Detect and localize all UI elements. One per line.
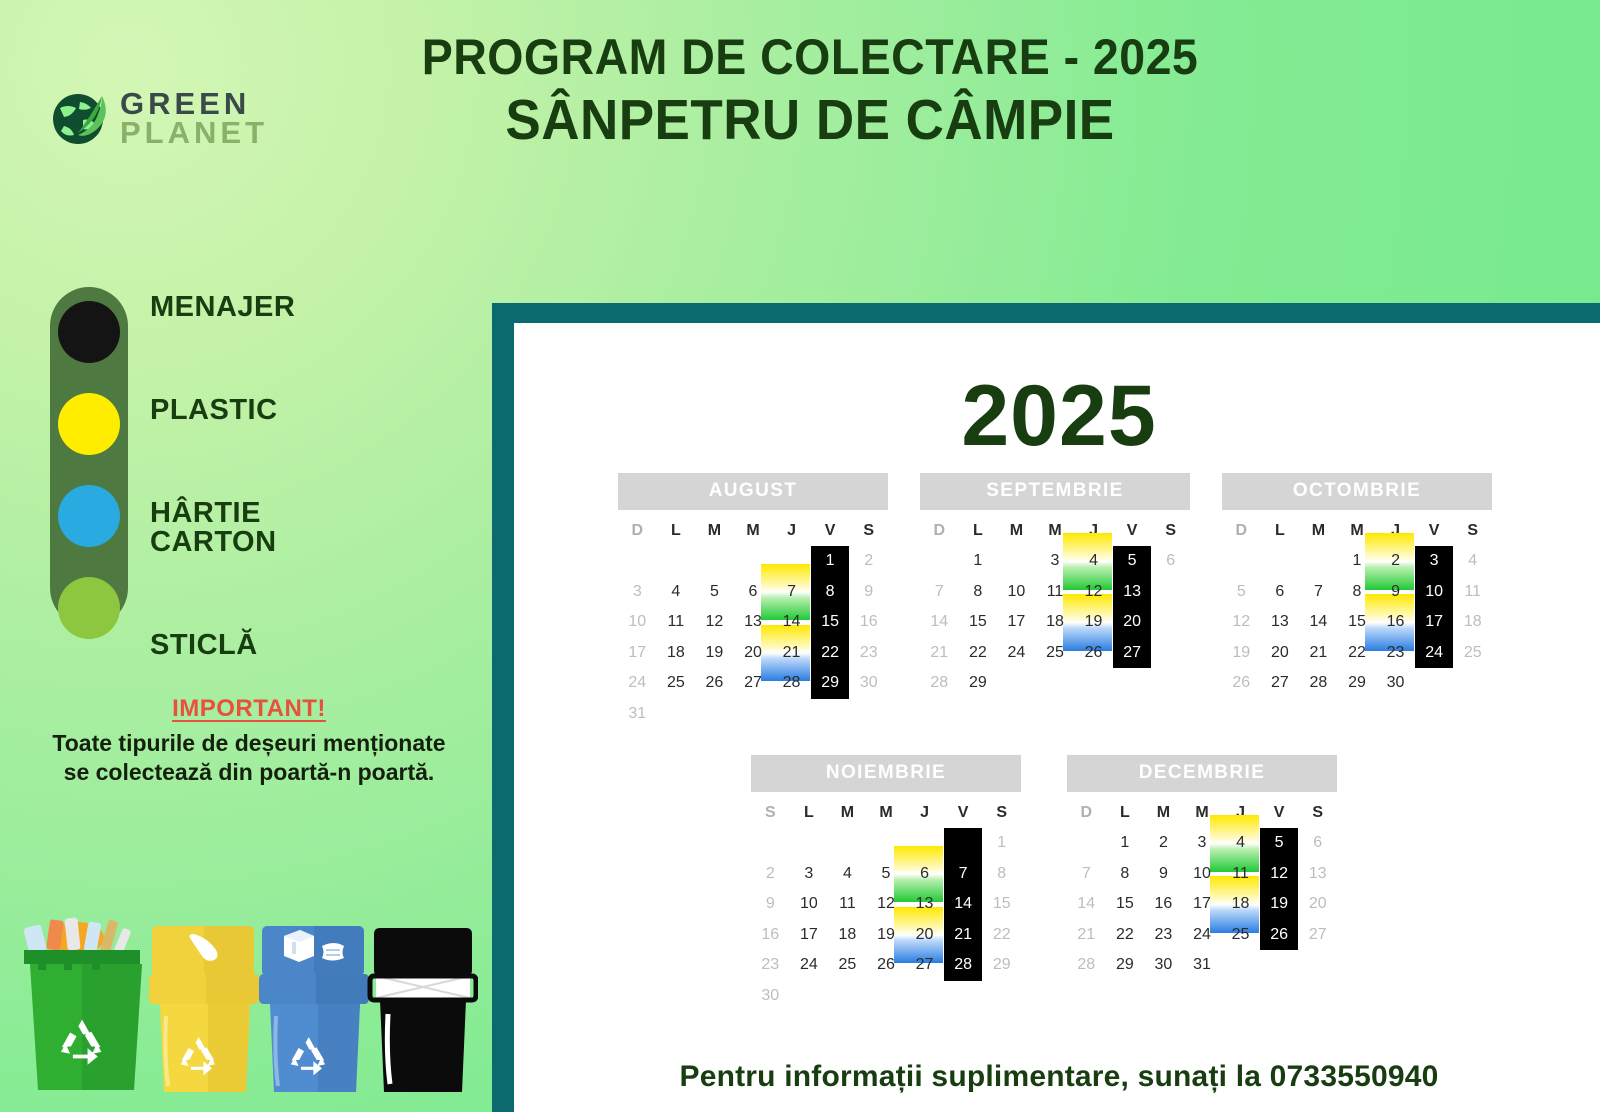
day-cell-empty — [772, 699, 811, 730]
day-cell[interactable]: 6 — [905, 859, 944, 890]
day-cell-empty — [1261, 546, 1300, 577]
day-of-week-header: SLMMJVS — [751, 798, 1021, 828]
important-title: IMPORTANT! — [14, 695, 484, 723]
day-cell[interactable]: 5 — [1260, 828, 1299, 859]
day-cell[interactable]: 24 — [1415, 638, 1454, 669]
day-cell-empty — [734, 546, 773, 577]
dow-0: D — [1067, 798, 1106, 828]
day-cell[interactable]: 10 — [790, 889, 829, 920]
dow-3: M — [1338, 516, 1377, 546]
day-cell[interactable]: 7 — [1299, 577, 1338, 608]
dow-3: M — [734, 516, 773, 546]
dow-5: V — [811, 516, 850, 546]
month-title: SEPTEMBRIE — [920, 473, 1190, 510]
day-cell[interactable]: 17 — [1415, 607, 1454, 638]
month-title: NOIEMBRIE — [751, 755, 1021, 792]
day-cell[interactable]: 11 — [828, 889, 867, 920]
day-cell[interactable]: 30 — [751, 981, 790, 1012]
day-cell[interactable]: 22 — [811, 638, 850, 669]
day-cell[interactable]: 16 — [751, 920, 790, 951]
day-cell[interactable]: 18 — [828, 920, 867, 951]
dow-2: M — [997, 516, 1036, 546]
day-cell[interactable]: 19 — [1074, 607, 1113, 638]
day-of-week-header: DLMMJVS — [1222, 516, 1492, 546]
day-cell[interactable]: 29 — [1106, 950, 1145, 981]
day-cell-empty — [997, 546, 1036, 577]
day-cell[interactable]: 25 — [1221, 920, 1260, 951]
day-cell[interactable]: 10 — [1415, 577, 1454, 608]
day-cell[interactable]: 5 — [695, 577, 734, 608]
dow-5: V — [1113, 516, 1152, 546]
day-cell[interactable]: 4 — [1221, 828, 1260, 859]
day-cell[interactable]: 1 — [811, 546, 850, 577]
dow-5: V — [944, 798, 983, 828]
day-cell[interactable]: 21 — [944, 920, 983, 951]
day-cell[interactable]: 30 — [849, 668, 888, 699]
day-cell[interactable]: 12 — [1074, 577, 1113, 608]
day-cell[interactable]: 24 — [997, 638, 1036, 669]
day-cell[interactable]: 31 — [1183, 950, 1222, 981]
day-of-week-header: DLMMJVS — [920, 516, 1190, 546]
day-cell[interactable]: 29 — [1338, 668, 1377, 699]
four-waste-bins-illustration — [8, 898, 478, 1103]
day-cell[interactable]: 11 — [1221, 859, 1260, 890]
day-cell[interactable]: 20 — [1261, 638, 1300, 669]
day-cell-empty — [695, 546, 734, 577]
day-of-week-header: DLMMJVS — [618, 516, 888, 546]
day-cell-empty — [944, 828, 983, 859]
day-cell[interactable]: 27 — [1113, 638, 1152, 669]
day-cell[interactable]: 27 — [905, 950, 944, 981]
day-cell[interactable]: 26 — [695, 668, 734, 699]
day-cell[interactable]: 1 — [1338, 546, 1377, 577]
day-cell[interactable]: 15 — [959, 607, 998, 638]
dow-2: M — [828, 798, 867, 828]
day-cell[interactable]: 6 — [1151, 546, 1190, 577]
dow-2: M — [1299, 516, 1338, 546]
dow-1: L — [1106, 798, 1145, 828]
day-cell-empty — [1299, 546, 1338, 577]
month-grid: 1234567891011121314151617181920212223242… — [751, 828, 1021, 1011]
day-cell[interactable]: 26 — [867, 950, 906, 981]
day-cell[interactable]: 15 — [982, 889, 1021, 920]
dow-3: M — [1183, 798, 1222, 828]
day-cell[interactable]: 3 — [618, 577, 657, 608]
day-cell[interactable]: 9 — [849, 577, 888, 608]
day-cell[interactable]: 13 — [1113, 577, 1152, 608]
black-dot-icon — [58, 301, 120, 363]
month-title: OCTOMBRIE — [1222, 473, 1492, 510]
dow-4: J — [1221, 798, 1260, 828]
month-noiembrie: NOIEMBRIESLMMJVS123456789101112131415161… — [751, 755, 1021, 1011]
day-cell[interactable]: 22 — [959, 638, 998, 669]
day-cell[interactable]: 13 — [1298, 859, 1337, 890]
day-cell-empty — [997, 668, 1036, 699]
day-cell[interactable]: 20 — [1298, 889, 1337, 920]
day-cell-empty — [920, 546, 959, 577]
dow-1: L — [657, 516, 696, 546]
day-cell[interactable]: 19 — [1222, 638, 1261, 669]
day-cell[interactable]: 25 — [828, 950, 867, 981]
day-cell[interactable]: 6 — [1298, 828, 1337, 859]
day-cell-empty — [1453, 668, 1492, 699]
day-cell[interactable]: 1 — [982, 828, 1021, 859]
dow-6: S — [1453, 516, 1492, 546]
day-cell[interactable]: 1 — [959, 546, 998, 577]
day-cell[interactable]: 20 — [734, 638, 773, 669]
day-cell-empty — [867, 981, 906, 1012]
day-cell[interactable]: 8 — [1106, 859, 1145, 890]
legend-item-plastic: PLASTIC — [150, 396, 295, 426]
day-cell[interactable]: 22 — [1338, 638, 1377, 669]
day-cell-empty — [1113, 668, 1152, 699]
dow-2: M — [695, 516, 734, 546]
day-cell[interactable]: 10 — [618, 607, 657, 638]
dow-0: D — [1222, 516, 1261, 546]
day-cell[interactable]: 3 — [1183, 828, 1222, 859]
day-cell-empty — [1415, 668, 1454, 699]
calendar-panel-frame: 2025 AUGUSTDLMMJVS1234567891011121314151… — [492, 303, 1600, 1112]
month-august: AUGUSTDLMMJVS123456789101112131415161718… — [618, 473, 888, 729]
day-cell[interactable]: 29 — [959, 668, 998, 699]
dow-2: M — [1144, 798, 1183, 828]
day-cell[interactable]: 14 — [1067, 889, 1106, 920]
day-cell-empty — [1036, 668, 1075, 699]
day-cell[interactable]: 14 — [944, 889, 983, 920]
day-cell[interactable]: 17 — [997, 607, 1036, 638]
month-grid: 1345678101112131415171819202122242526272… — [920, 546, 1190, 699]
dow-4: J — [1376, 516, 1415, 546]
day-cell[interactable]: 15 — [1106, 889, 1145, 920]
day-cell[interactable]: 21 — [772, 638, 811, 669]
brand-name-bottom: PLANET — [120, 119, 268, 148]
day-cell-empty — [1151, 577, 1190, 608]
day-cell-empty — [751, 828, 790, 859]
dow-1: L — [959, 516, 998, 546]
day-cell[interactable]: 7 — [1067, 859, 1106, 890]
calendar-year: 2025 — [514, 323, 1600, 459]
day-cell[interactable]: 1 — [1106, 828, 1145, 859]
day-cell-empty — [772, 546, 811, 577]
day-cell-empty — [828, 981, 867, 1012]
day-cell[interactable]: 28 — [920, 668, 959, 699]
month-grid: 1234567891011121314151617181920212223242… — [1222, 546, 1492, 699]
day-cell[interactable]: 18 — [1221, 889, 1260, 920]
months-row-1: AUGUSTDLMMJVS123456789101112131415161718… — [514, 473, 1600, 729]
day-cell[interactable]: 26 — [1222, 668, 1261, 699]
legend-item-hartie-carton: HÂRTIE CARTON — [150, 499, 295, 559]
day-cell[interactable]: 4 — [828, 859, 867, 890]
contact-footer: Pentru informații suplimentare, sunați l… — [514, 1060, 1600, 1094]
day-cell[interactable]: 20 — [1113, 607, 1152, 638]
dow-3: M — [1036, 516, 1075, 546]
day-cell-empty — [1298, 950, 1337, 981]
day-cell[interactable]: 27 — [1261, 668, 1300, 699]
day-cell[interactable]: 18 — [657, 638, 696, 669]
blue-dot-icon — [58, 485, 120, 547]
yellow-dot-icon — [58, 393, 120, 455]
day-cell[interactable]: 4 — [1453, 546, 1492, 577]
day-cell[interactable]: 17 — [618, 638, 657, 669]
day-cell-empty — [695, 699, 734, 730]
day-cell-empty — [1151, 668, 1190, 699]
dow-3: M — [867, 798, 906, 828]
month-title: AUGUST — [618, 473, 888, 510]
day-cell-empty — [1151, 638, 1190, 669]
legend-label-list: MENAJER PLASTIC HÂRTIE CARTON STICLĂ — [150, 287, 295, 661]
important-body: Toate tipurile de deșeuri menționate se … — [14, 729, 484, 788]
month-octombrie: OCTOMBRIEDLMMJVS123456789101112131415161… — [1222, 473, 1492, 729]
dow-0: D — [920, 516, 959, 546]
day-cell[interactable]: 23 — [1376, 638, 1415, 669]
months-row-2: NOIEMBRIESLMMJVS123456789101112131415161… — [514, 755, 1600, 1011]
day-cell[interactable]: 9 — [751, 889, 790, 920]
day-cell[interactable]: 23 — [849, 638, 888, 669]
legend-color-bar — [50, 287, 128, 627]
waste-type-legend: MENAJER PLASTIC HÂRTIE CARTON STICLĂ — [50, 287, 295, 661]
day-cell[interactable]: 25 — [1453, 638, 1492, 669]
dow-4: J — [1074, 516, 1113, 546]
day-cell-empty — [1222, 546, 1261, 577]
day-cell[interactable]: 10 — [1183, 859, 1222, 890]
locality-title: SÂNPETRU DE CÂMPIE — [364, 85, 1257, 156]
month-grid: 1234567891011121314151617181920212223242… — [1067, 828, 1337, 981]
day-cell[interactable]: 2 — [751, 859, 790, 890]
day-cell-empty — [811, 699, 850, 730]
day-cell[interactable]: 8 — [811, 577, 850, 608]
day-cell[interactable]: 3 — [790, 859, 829, 890]
day-cell-empty — [657, 546, 696, 577]
day-cell[interactable]: 27 — [734, 668, 773, 699]
bin-green-full — [23, 917, 142, 1090]
day-cell[interactable]: 29 — [811, 668, 850, 699]
day-cell[interactable]: 21 — [920, 638, 959, 669]
dow-6: S — [1298, 798, 1337, 828]
day-cell[interactable]: 6 — [734, 577, 773, 608]
page-title: PROGRAM DE COLECTARE - 2025 — [364, 30, 1257, 85]
day-cell[interactable]: 20 — [905, 920, 944, 951]
day-cell[interactable]: 11 — [1453, 577, 1492, 608]
day-cell-empty — [1260, 950, 1299, 981]
day-cell[interactable]: 28 — [944, 950, 983, 981]
day-cell[interactable]: 16 — [1144, 889, 1183, 920]
bin-black-household — [370, 928, 476, 1092]
dow-6: S — [982, 798, 1021, 828]
dow-6: S — [849, 516, 888, 546]
day-cell[interactable]: 4 — [657, 577, 696, 608]
day-cell[interactable]: 14 — [1299, 607, 1338, 638]
day-cell[interactable]: 5 — [1113, 546, 1152, 577]
day-cell[interactable]: 5 — [867, 859, 906, 890]
day-cell[interactable]: 3 — [1036, 546, 1075, 577]
day-cell[interactable]: 12 — [1260, 859, 1299, 890]
day-cell[interactable]: 13 — [905, 889, 944, 920]
day-cell-empty — [657, 699, 696, 730]
bin-blue-paper — [259, 926, 369, 1092]
month-grid: 1234567891011121314151617181920212223242… — [618, 546, 888, 729]
day-cell[interactable]: 28 — [1067, 950, 1106, 981]
day-cell-empty — [790, 828, 829, 859]
day-cell[interactable]: 5 — [1222, 577, 1261, 608]
dow-5: V — [1415, 516, 1454, 546]
dow-0: S — [751, 798, 790, 828]
day-cell[interactable]: 4 — [1074, 546, 1113, 577]
day-cell[interactable]: 22 — [1106, 920, 1145, 951]
important-note: IMPORTANT! Toate tipurile de deșeuri men… — [14, 695, 484, 788]
months-container: AUGUSTDLMMJVS123456789101112131415161718… — [514, 473, 1600, 1011]
dow-1: L — [790, 798, 829, 828]
day-cell[interactable]: 10 — [997, 577, 1036, 608]
day-cell-empty — [1074, 668, 1113, 699]
day-cell-empty — [1151, 607, 1190, 638]
day-cell[interactable]: 7 — [772, 577, 811, 608]
day-cell-empty — [982, 981, 1021, 1012]
day-cell[interactable]: 28 — [772, 668, 811, 699]
month-septembrie: SEPTEMBRIEDLMMJVS13456781011121314151718… — [920, 473, 1190, 729]
day-cell[interactable]: 25 — [657, 668, 696, 699]
day-cell[interactable]: 31 — [618, 699, 657, 730]
legend-item-menajer: MENAJER — [150, 293, 295, 323]
day-cell-empty — [618, 546, 657, 577]
dow-1: L — [1261, 516, 1300, 546]
calendar-panel: 2025 AUGUSTDLMMJVS1234567891011121314151… — [514, 323, 1600, 1112]
day-cell[interactable]: 21 — [1299, 638, 1338, 669]
day-cell[interactable]: 12 — [1222, 607, 1261, 638]
day-cell[interactable]: 17 — [1183, 889, 1222, 920]
day-cell[interactable]: 17 — [790, 920, 829, 951]
day-cell[interactable]: 30 — [1376, 668, 1415, 699]
day-cell[interactable]: 28 — [1299, 668, 1338, 699]
day-cell[interactable]: 12 — [867, 889, 906, 920]
day-cell[interactable]: 8 — [1338, 577, 1377, 608]
dow-6: S — [1151, 516, 1190, 546]
important-line-2: se colectează din poartă-n poartă. — [14, 758, 484, 787]
day-cell[interactable]: 13 — [734, 607, 773, 638]
day-cell[interactable]: 27 — [1298, 920, 1337, 951]
day-cell[interactable]: 14 — [920, 607, 959, 638]
legend-item-hartie-line2: CARTON — [150, 528, 295, 558]
globe-leaf-icon — [50, 88, 112, 150]
day-cell-empty — [790, 981, 829, 1012]
day-cell-empty — [1221, 950, 1260, 981]
day-cell[interactable]: 15 — [811, 607, 850, 638]
day-cell-empty — [849, 699, 888, 730]
day-cell-empty — [828, 828, 867, 859]
day-cell[interactable]: 9 — [1376, 577, 1415, 608]
day-cell[interactable]: 19 — [1260, 889, 1299, 920]
day-cell[interactable]: 13 — [1261, 607, 1300, 638]
day-cell[interactable]: 2 — [1144, 828, 1183, 859]
day-cell[interactable]: 24 — [790, 950, 829, 981]
day-cell[interactable]: 26 — [1074, 638, 1113, 669]
day-cell[interactable]: 14 — [772, 607, 811, 638]
day-cell[interactable]: 11 — [1036, 577, 1075, 608]
day-cell-empty — [905, 981, 944, 1012]
day-cell[interactable]: 3 — [1415, 546, 1454, 577]
day-cell[interactable]: 12 — [695, 607, 734, 638]
day-cell-empty — [944, 981, 983, 1012]
day-cell[interactable]: 16 — [1376, 607, 1415, 638]
day-cell-empty — [734, 699, 773, 730]
day-cell[interactable]: 25 — [1036, 638, 1075, 669]
important-line-1: Toate tipurile de deșeuri menționate — [14, 729, 484, 758]
dow-4: J — [905, 798, 944, 828]
poster-titles: PROGRAM DE COLECTARE - 2025 SÂNPETRU DE … — [330, 30, 1290, 156]
legend-item-hartie-line1: HÂRTIE — [150, 499, 295, 529]
day-cell[interactable]: 19 — [867, 920, 906, 951]
day-cell[interactable]: 2 — [1376, 546, 1415, 577]
green-dot-icon — [58, 577, 120, 639]
day-of-week-header: DLMMJVS — [1067, 798, 1337, 828]
day-cell[interactable]: 30 — [1144, 950, 1183, 981]
day-cell[interactable]: 19 — [695, 638, 734, 669]
day-cell[interactable]: 2 — [849, 546, 888, 577]
legend-item-sticla: STICLĂ — [150, 631, 295, 661]
brand-logo: GREEN PLANET — [50, 88, 268, 150]
day-cell[interactable]: 7 — [944, 859, 983, 890]
bin-yellow-plastic — [149, 926, 259, 1092]
month-title: DECEMBRIE — [1067, 755, 1337, 792]
day-cell[interactable]: 29 — [982, 950, 1021, 981]
day-cell[interactable]: 7 — [920, 577, 959, 608]
day-cell[interactable]: 6 — [1261, 577, 1300, 608]
day-cell[interactable]: 8 — [959, 577, 998, 608]
day-cell[interactable]: 24 — [1183, 920, 1222, 951]
day-cell[interactable]: 22 — [982, 920, 1021, 951]
dow-0: D — [618, 516, 657, 546]
day-cell[interactable]: 9 — [1144, 859, 1183, 890]
day-cell-empty — [905, 828, 944, 859]
day-cell[interactable]: 8 — [982, 859, 1021, 890]
day-cell[interactable]: 21 — [1067, 920, 1106, 951]
day-cell[interactable]: 24 — [618, 668, 657, 699]
day-cell[interactable]: 18 — [1453, 607, 1492, 638]
dow-4: J — [772, 516, 811, 546]
day-cell[interactable]: 26 — [1260, 920, 1299, 951]
day-cell[interactable]: 11 — [657, 607, 696, 638]
dow-5: V — [1260, 798, 1299, 828]
month-decembrie: DECEMBRIEDLMMJVS123456789101112131415161… — [1067, 755, 1337, 1011]
collection-schedule-poster: GREEN PLANET PROGRAM DE COLECTARE - 2025… — [0, 0, 1600, 1112]
day-cell[interactable]: 15 — [1338, 607, 1377, 638]
day-cell-empty — [1067, 828, 1106, 859]
day-cell-empty — [867, 828, 906, 859]
day-cell[interactable]: 16 — [849, 607, 888, 638]
day-cell[interactable]: 23 — [751, 950, 790, 981]
day-cell[interactable]: 18 — [1036, 607, 1075, 638]
day-cell[interactable]: 23 — [1144, 920, 1183, 951]
